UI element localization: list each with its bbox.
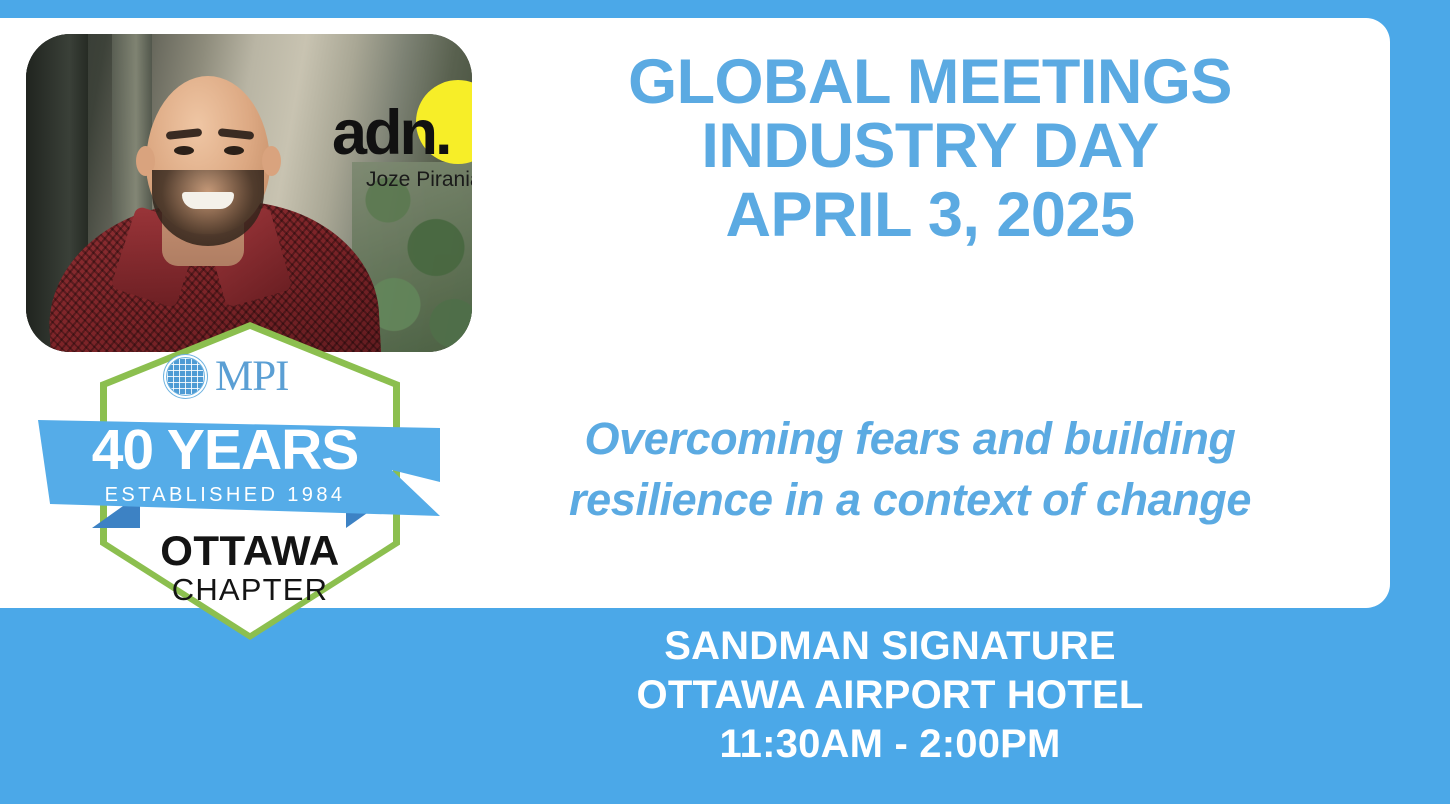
photo-eye-right (224, 146, 244, 155)
photo-eye-left (174, 146, 194, 155)
mpi-logo: MPI (163, 352, 343, 400)
adn-logo: adn. Joze Piranian (332, 80, 472, 185)
headline-line-1: GLOBAL MEETINGS (500, 50, 1360, 114)
adn-wordmark: adn. (332, 102, 450, 165)
page-title: GLOBAL MEETINGS INDUSTRY DAY APRIL 3, 20… (500, 50, 1360, 247)
venue-name-line-2: OTTAWA AIRPORT HOTEL (440, 671, 1340, 720)
badge-ribbon-text: 40 YEARS ESTABLISHED 1984 (40, 422, 410, 507)
adn-wordmark-text: adn (332, 98, 435, 168)
event-subtitle: Overcoming fears and building resilience… (460, 408, 1360, 530)
venue-name-line-1: SANDMAN SIGNATURE (440, 622, 1340, 671)
speaker-name: Joze Piranian (366, 168, 472, 192)
badge-established-label: ESTABLISHED 1984 (40, 484, 410, 507)
photo-ear-right (262, 146, 281, 176)
adn-wordmark-dot: . (435, 98, 450, 168)
badge-chapter-label: CHAPTER (107, 572, 393, 608)
headline-date: APRIL 3, 2025 (500, 183, 1360, 247)
venue-details: SANDMAN SIGNATURE OTTAWA AIRPORT HOTEL 1… (440, 622, 1340, 768)
badge-city-label: OTTAWA (107, 527, 393, 575)
subtitle-line-1: Overcoming fears and building (460, 408, 1360, 469)
globe-icon (163, 354, 208, 399)
subtitle-line-2: resilience in a context of change (460, 469, 1360, 530)
mpi-initials: MPI (215, 355, 288, 398)
mpi-40-years-badge: MPI 40 YEARS ESTABLISHED 1984 OTTAWA CHA… (30, 322, 450, 642)
photo-smile (182, 192, 234, 209)
badge-years-label: 40 YEARS (40, 422, 410, 479)
headline-line-2: INDUSTRY DAY (500, 114, 1360, 178)
event-time: 11:30AM - 2:00PM (440, 720, 1340, 769)
speaker-headshot-photo: adn. Joze Piranian (26, 34, 472, 352)
